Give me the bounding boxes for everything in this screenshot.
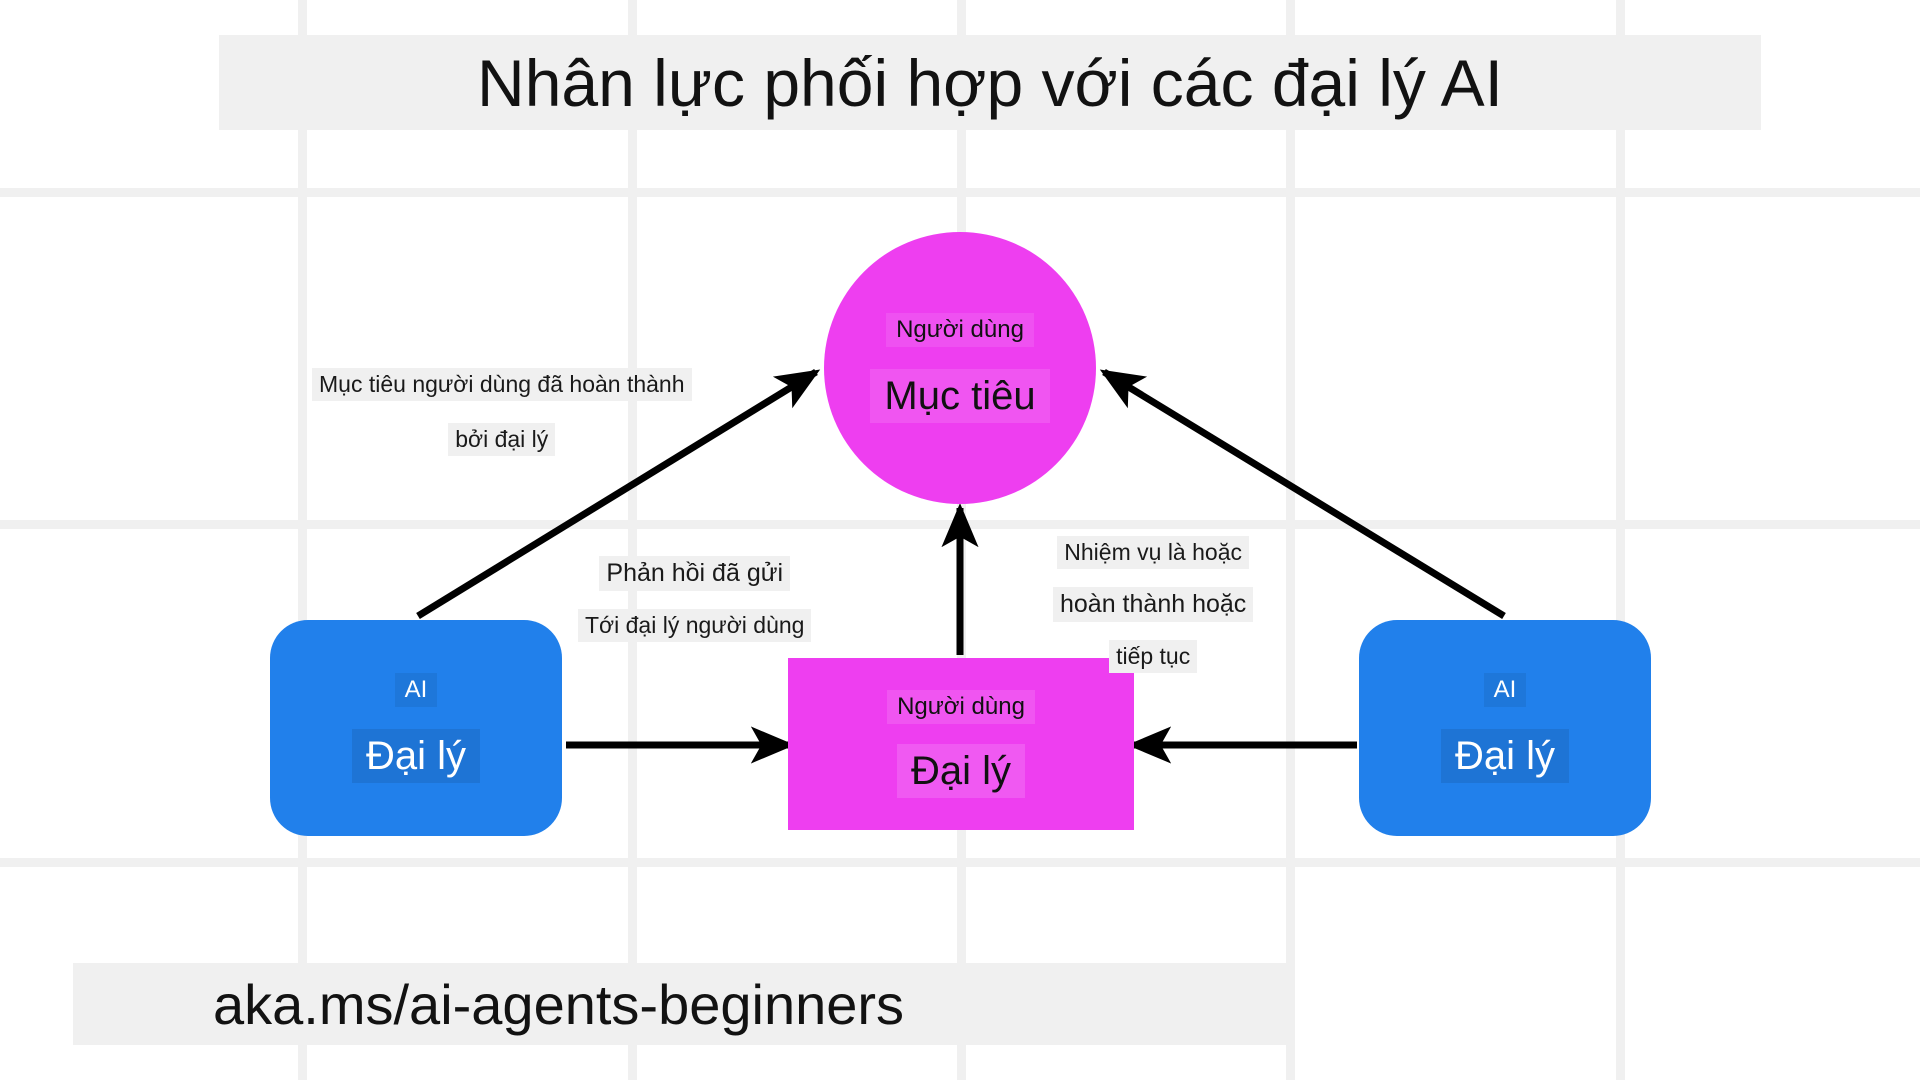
page-title: Nhân lực phối hợp với các đại lý AI xyxy=(219,35,1761,130)
slide-canvas: Nhân lực phối hợp với các đại lý AI Ngườ… xyxy=(0,0,1920,1080)
node-user-goal-sublabel: Người dùng xyxy=(886,313,1034,347)
node-user-agent-label: Đại lý xyxy=(897,744,1025,798)
connector-layer xyxy=(0,0,1920,1080)
gridline-horizontal xyxy=(0,858,1920,867)
edge-label-task-status: Nhiệm vụ là hoặc hoàn thành hoặc tiếp tụ… xyxy=(1053,536,1253,673)
node-ai-agent-right[interactable]: AI Đại lý xyxy=(1359,620,1651,836)
url-text: aka.ms/ai-agents-beginners xyxy=(213,972,904,1037)
edge-label-feedback-sent-line1: Phản hồi đã gửi xyxy=(599,556,790,591)
node-user-agent[interactable]: Người dùng Đại lý xyxy=(788,658,1134,830)
node-ai-agent-right-label: Đại lý xyxy=(1441,729,1569,783)
page-title-text: Nhân lực phối hợp với các đại lý AI xyxy=(477,45,1503,121)
gridline-vertical xyxy=(957,0,966,1080)
node-user-agent-sublabel: Người dùng xyxy=(887,690,1035,724)
edge-label-task-status-line2: hoàn thành hoặc xyxy=(1053,587,1253,622)
gridline-horizontal xyxy=(0,188,1920,197)
gridline-vertical xyxy=(1616,0,1625,1080)
edge-label-task-status-line3: tiếp tục xyxy=(1109,640,1197,673)
gridline-vertical xyxy=(298,0,307,1080)
node-ai-agent-right-sublabel: AI xyxy=(1484,673,1527,707)
edge-label-task-status-line1: Nhiệm vụ là hoặc xyxy=(1057,536,1249,569)
gridline-vertical xyxy=(1286,0,1295,1080)
node-user-goal-label: Mục tiêu xyxy=(870,369,1049,423)
node-ai-agent-left-sublabel: AI xyxy=(395,673,438,707)
edge-label-feedback-sent: Phản hồi đã gửi Tới đại lý người dùng xyxy=(578,556,811,642)
node-ai-agent-left[interactable]: AI Đại lý xyxy=(270,620,562,836)
gridline-horizontal xyxy=(0,520,1920,529)
background-grid xyxy=(0,0,1920,1080)
node-ai-agent-left-label: Đại lý xyxy=(352,729,480,783)
url-banner[interactable]: aka.ms/ai-agents-beginners xyxy=(73,963,1293,1045)
edge-label-feedback-sent-line2: Tới đại lý người dùng xyxy=(578,609,811,642)
node-user-goal[interactable]: Người dùng Mục tiêu xyxy=(824,232,1096,504)
edge-label-goal-completed-line1: Mục tiêu người dùng đã hoàn thành xyxy=(312,368,692,401)
edge-label-goal-completed-line2: bởi đại lý xyxy=(448,423,555,456)
edge-label-goal-completed: Mục tiêu người dùng đã hoàn thành bởi đạ… xyxy=(312,368,692,456)
gridline-vertical xyxy=(628,0,637,1080)
